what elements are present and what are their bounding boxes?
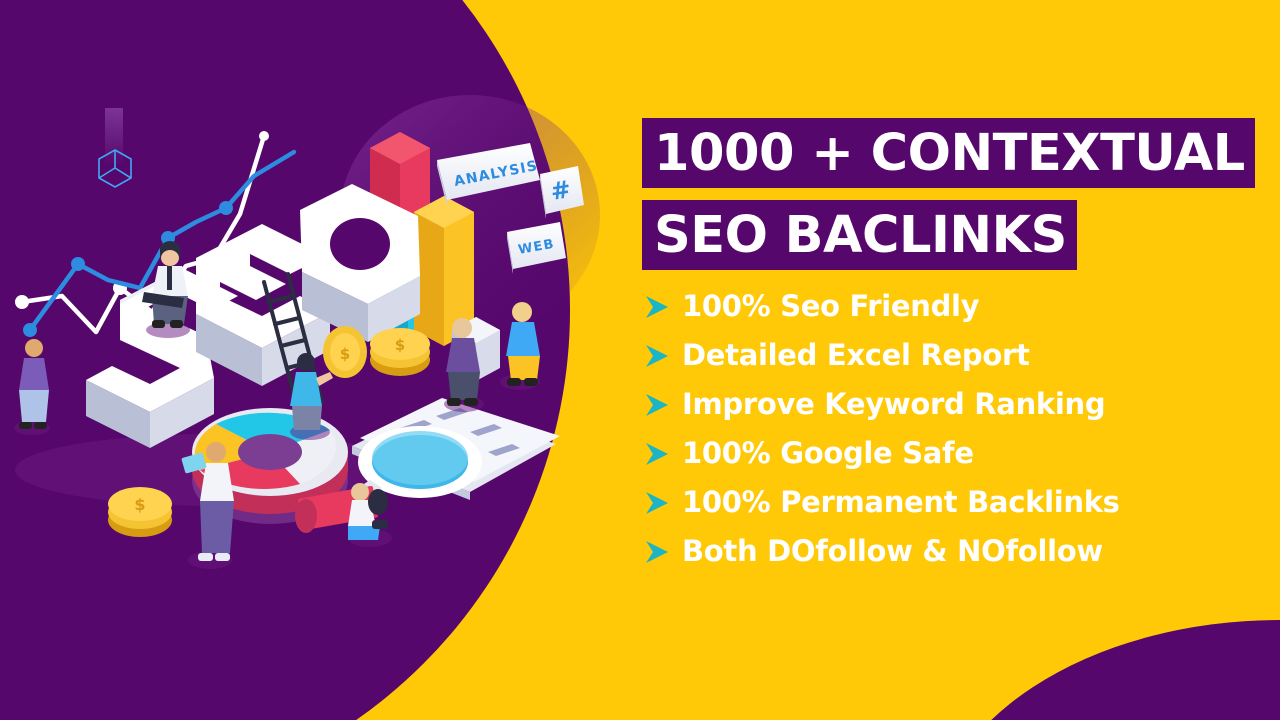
list-item-label: 100% Permanent Backlinks <box>682 488 1120 517</box>
person-left-standing <box>14 339 50 435</box>
coin-symbol: $ <box>340 345 350 363</box>
list-item: 100% Seo Friendly <box>640 282 1280 331</box>
list-item: Both DOfollow & NOfollow <box>640 527 1280 576</box>
coin-stack-left: $ <box>108 487 172 537</box>
headline-line-2-text: SEO BACLINKS <box>654 206 1067 265</box>
coin-symbol: $ <box>395 336 405 354</box>
coin-single: $ <box>323 326 367 378</box>
light-beam <box>105 108 123 166</box>
list-item-label: Improve Keyword Ranking <box>682 390 1105 419</box>
list-item-label: Both DOfollow & NOfollow <box>682 537 1103 566</box>
list-item: Improve Keyword Ranking <box>640 380 1280 429</box>
arrow-right-icon <box>644 293 670 321</box>
list-item: Detailed Excel Report <box>640 331 1280 380</box>
arrow-right-icon <box>644 538 670 566</box>
wireframe-cube-icon <box>99 150 131 187</box>
arrow-right-icon <box>644 489 670 517</box>
list-item-label: 100% Google Safe <box>682 439 974 468</box>
headline-line-2: SEO BACLINKS <box>642 200 1077 270</box>
list-item: 100% Permanent Backlinks <box>640 478 1280 527</box>
arrow-right-icon <box>644 342 670 370</box>
seo-illustration: ANALYSIS # WEB <box>0 0 640 720</box>
arrow-right-icon <box>644 391 670 419</box>
feature-list: 100% Seo Friendly Detailed Excel Report … <box>640 282 1280 576</box>
content-panel: 1000 + CONTEXTUAL SEO BACLINKS 100% Seo … <box>640 0 1280 720</box>
coin-stack-right: $ <box>370 328 430 376</box>
coin-symbol: $ <box>134 495 145 514</box>
list-item-label: Detailed Excel Report <box>682 341 1030 370</box>
headline-line-1: 1000 + CONTEXTUAL <box>642 118 1255 188</box>
list-item: 100% Google Safe <box>640 429 1280 478</box>
list-item-label: 100% Seo Friendly <box>682 292 979 321</box>
arrow-right-icon <box>644 440 670 468</box>
headline-line-1-text: 1000 + CONTEXTUAL <box>654 124 1245 183</box>
poster-canvas: ANALYSIS # WEB <box>0 0 1280 720</box>
